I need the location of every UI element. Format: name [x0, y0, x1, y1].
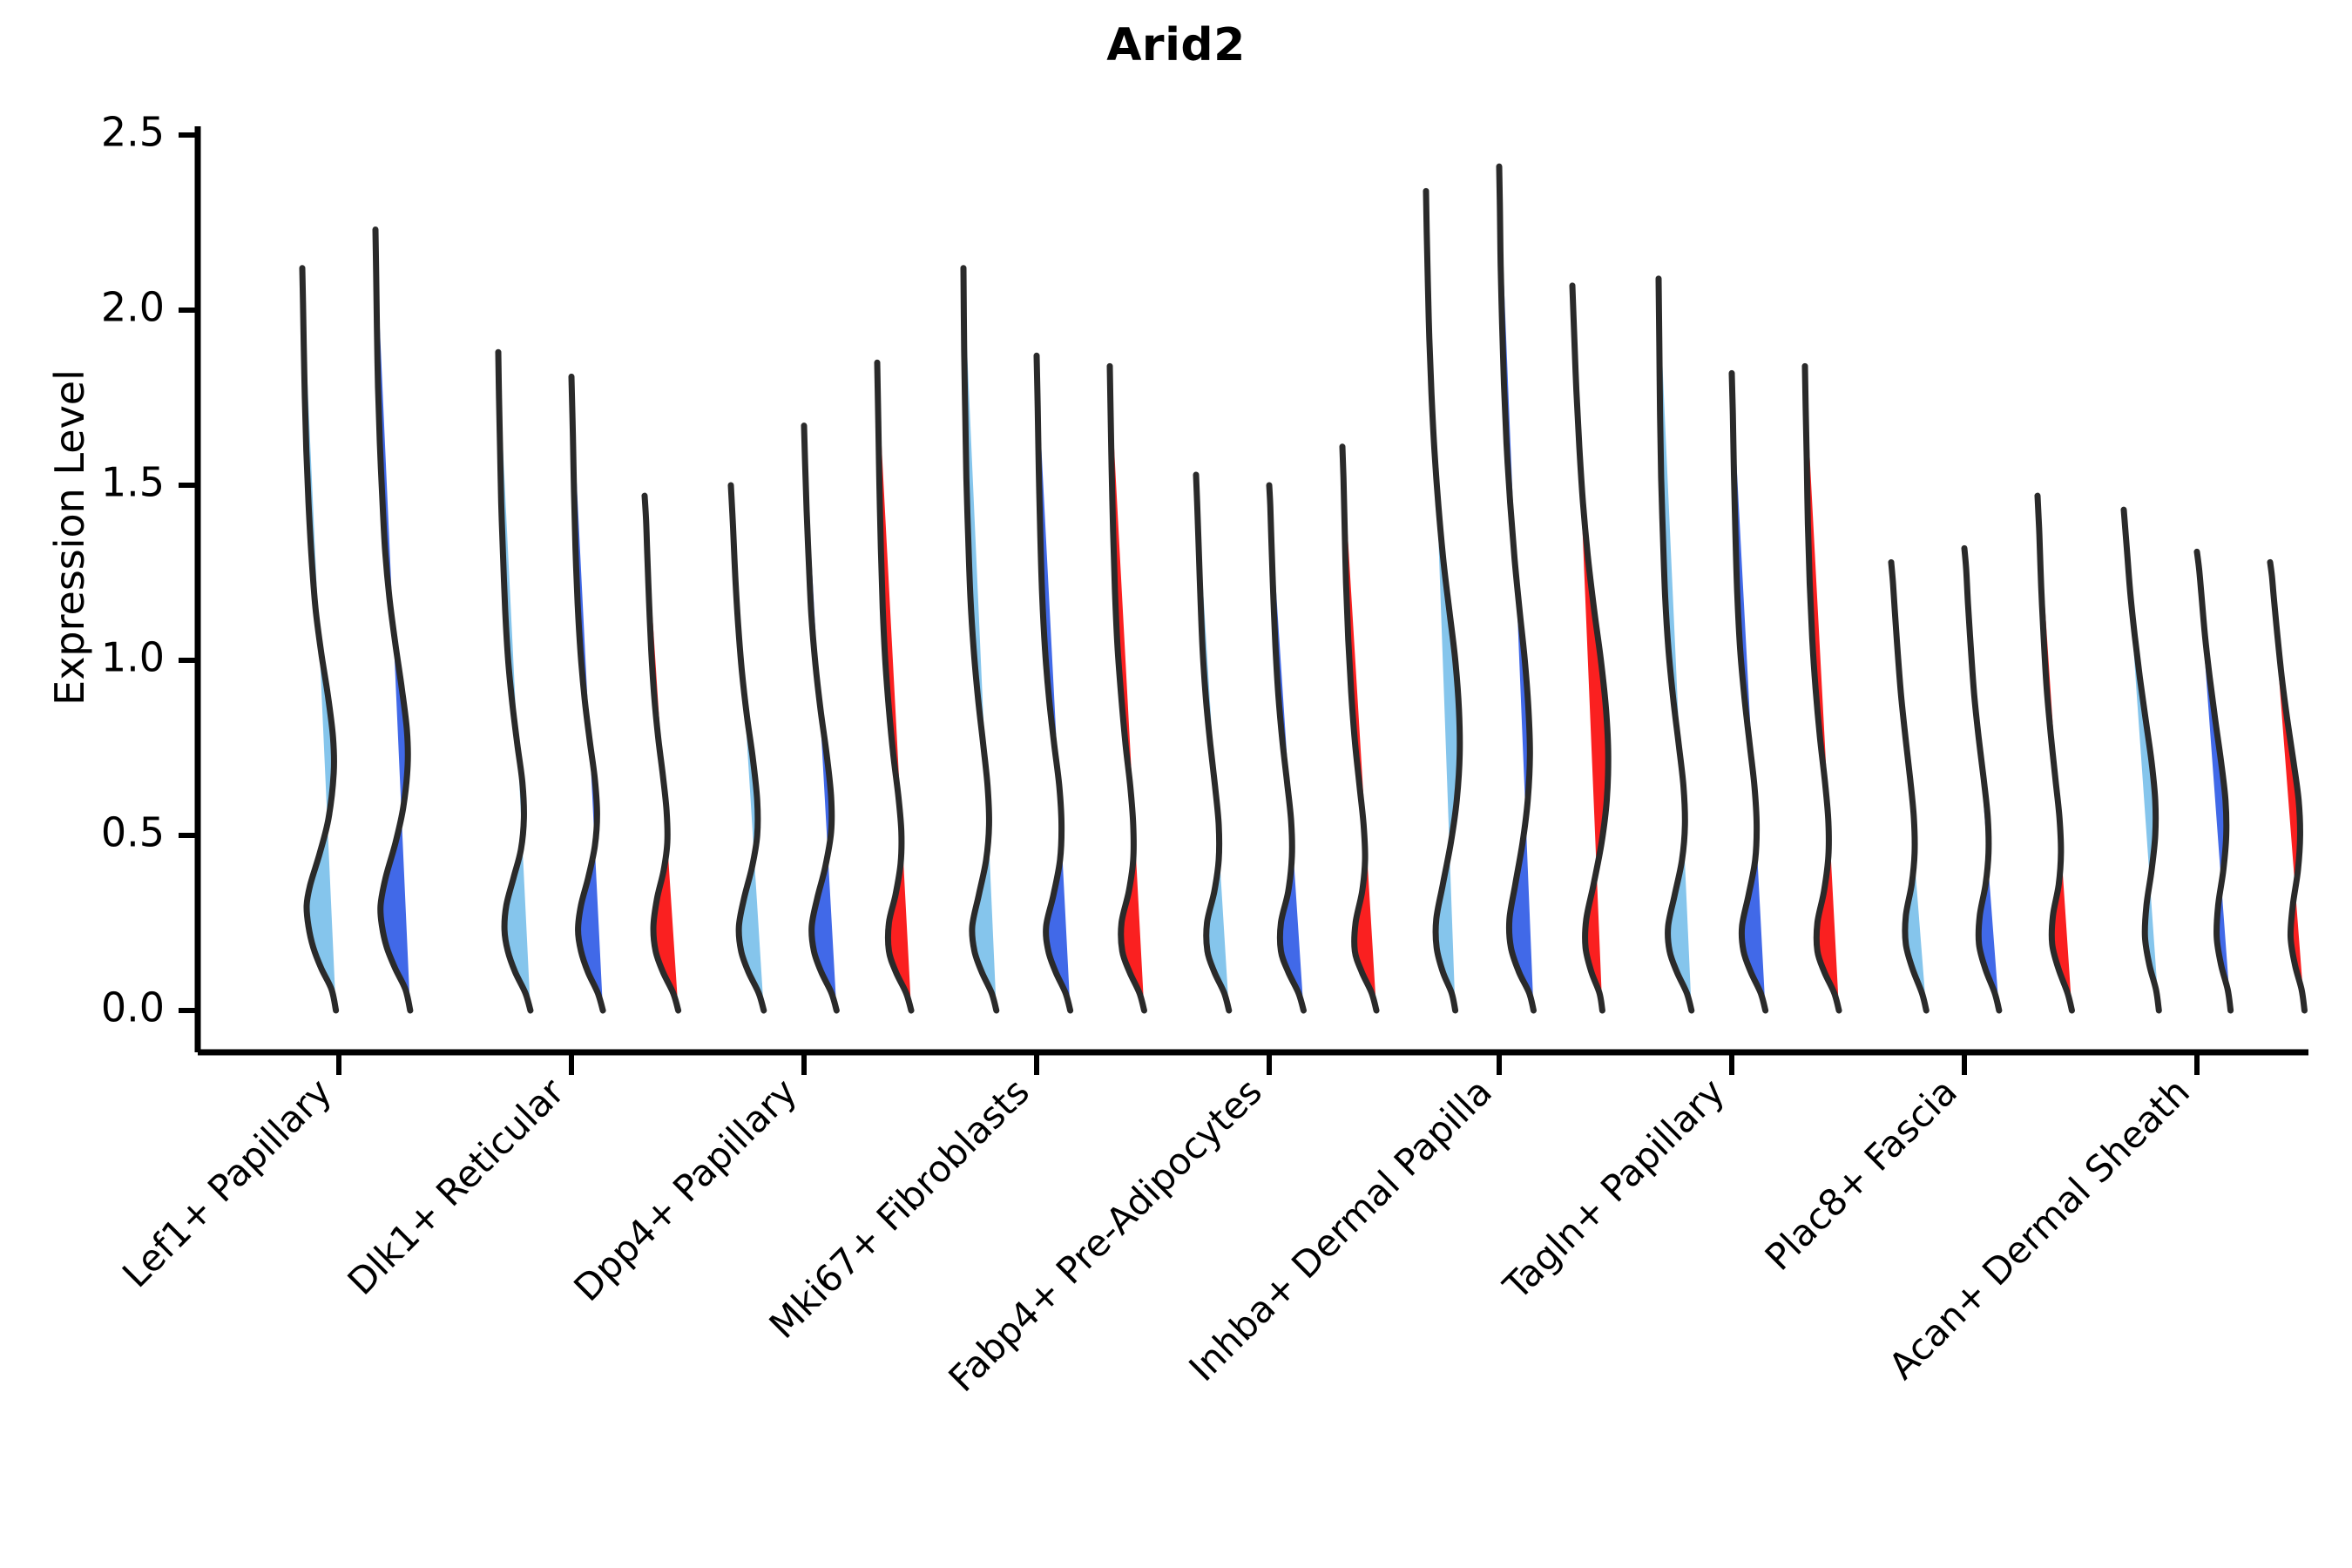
violin-shape — [2197, 551, 2231, 1010]
violin-shape — [1805, 366, 1839, 1010]
x-tick-label: Dlk1+ Reticular — [340, 1070, 573, 1303]
violin-shape — [1426, 191, 1460, 1010]
violin-shape — [375, 230, 410, 1010]
x-tick-label: Mki67+ Fibroblasts — [761, 1070, 1037, 1346]
x-tick-label: Tagln+ Papillary — [1495, 1070, 1733, 1308]
violin-shape — [571, 376, 603, 1010]
x-tick-label: Lef1+ Papillary — [114, 1070, 340, 1295]
y-tick-label: 0.5 — [101, 809, 165, 856]
violin-shape — [1499, 166, 1533, 1010]
violin-shape — [2038, 496, 2072, 1010]
y-tick-label: 2.0 — [101, 284, 165, 331]
y-tick-labels: 0.00.51.01.52.02.5 — [101, 109, 165, 1031]
y-tick-label: 1.0 — [101, 634, 165, 681]
violin-shape — [1196, 475, 1229, 1010]
violin-shape — [1037, 355, 1071, 1010]
x-tick-label: Plac8+ Fascia — [1757, 1070, 1965, 1278]
violin-shape — [731, 485, 764, 1010]
violin-shape — [302, 268, 336, 1010]
violin-shape — [804, 426, 836, 1010]
y-tick-label: 0.0 — [101, 984, 165, 1031]
violin-shape — [1269, 485, 1303, 1010]
violin-shape — [2124, 510, 2159, 1010]
violin-shape — [877, 362, 911, 1010]
x-tick-labels: Lef1+ PapillaryDlk1+ ReticularDpp4+ Papi… — [114, 1070, 2198, 1400]
chart-canvas: 0.00.51.01.52.02.5 Lef1+ PapillaryDlk1+ … — [0, 0, 2352, 1568]
violins-layer — [302, 166, 2304, 1010]
violin-shape — [1659, 279, 1692, 1010]
violin-shape — [1110, 366, 1144, 1010]
violin-shape — [963, 268, 997, 1010]
y-tick-label: 2.5 — [101, 109, 165, 156]
violin-shape — [498, 352, 531, 1010]
violin-shape — [1891, 562, 1926, 1010]
violin-shape — [645, 496, 679, 1010]
violin-shape — [1964, 548, 1999, 1010]
violin-shape — [1572, 286, 1608, 1010]
violin-shape — [2270, 562, 2304, 1010]
violin-shape — [1342, 447, 1376, 1010]
x-tick-label: Dpp4+ Papillary — [565, 1070, 805, 1309]
y-tick-label: 1.5 — [101, 459, 165, 506]
violin-shape — [1732, 373, 1766, 1010]
violin-plot-figure: Arid2 Expression Level 0.00.51.01.52.02.… — [0, 0, 2352, 1568]
